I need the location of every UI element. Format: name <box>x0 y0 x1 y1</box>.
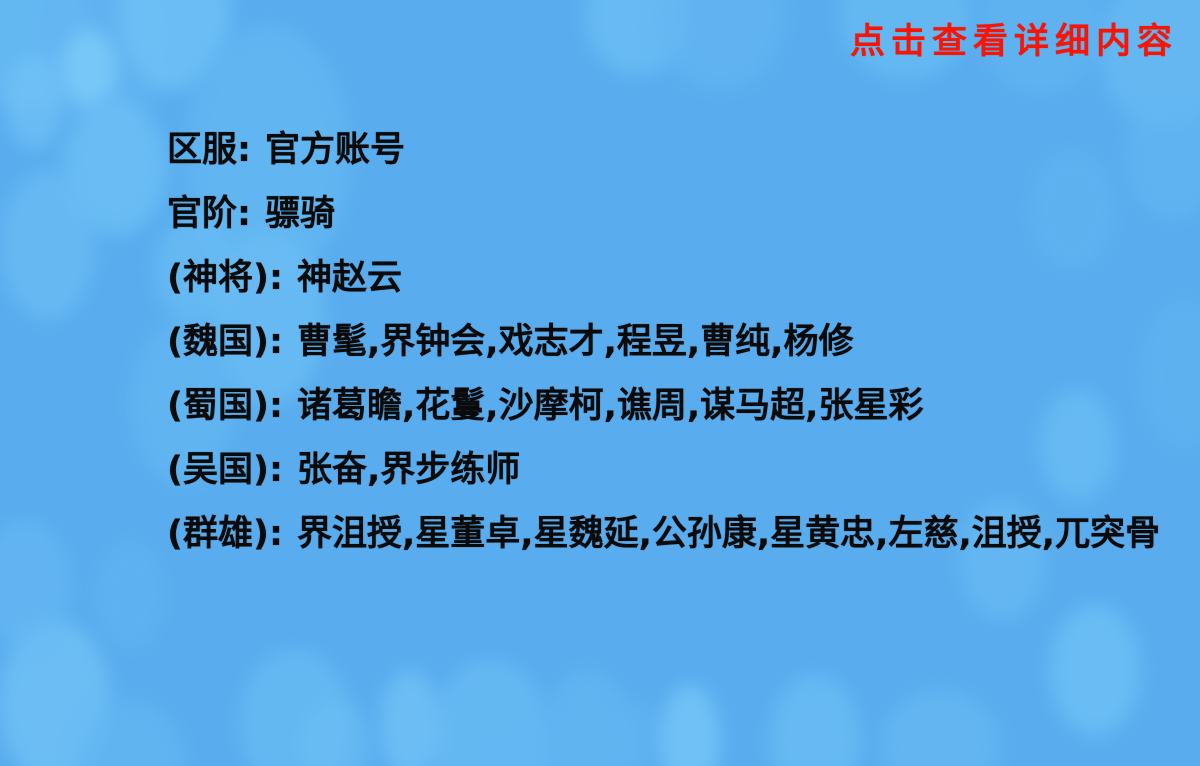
info-value-shu: 诸葛瞻,花鬘,沙摩柯,谯周,谋马超,张星彩 <box>297 386 923 426</box>
info-line-warlords: (群雄):界沮授,星董卓,星魏延,公孙康,星黄忠,左慈,沮授,兀突骨 <box>167 502 1177 566</box>
info-value-rank: 骠骑 <box>265 194 335 234</box>
info-label-warlords: (群雄): <box>167 514 283 554</box>
info-line-region: 区服:官方账号 <box>167 118 1177 182</box>
info-label-divine-general: (神将): <box>167 258 283 298</box>
info-line-rank: 官阶:骠骑 <box>167 182 1177 246</box>
player-info-list: 区服:官方账号 官阶:骠骑 (神将):神赵云 (魏国):曹髦,界钟会,戏志才,程… <box>167 118 1177 566</box>
slide-canvas: 点击查看详细内容 区服:官方账号 官阶:骠骑 (神将):神赵云 (魏国):曹髦,… <box>0 0 1200 766</box>
info-value-divine-general: 神赵云 <box>297 258 402 298</box>
info-label-wu: (吴国): <box>167 450 283 490</box>
info-label-rank: 官阶: <box>167 194 251 234</box>
info-line-wei: (魏国):曹髦,界钟会,戏志才,程昱,曹纯,杨修 <box>167 310 1177 374</box>
info-value-region: 官方账号 <box>265 130 405 170</box>
page-title[interactable]: 点击查看详细内容 <box>850 25 1178 60</box>
info-line-divine-general: (神将):神赵云 <box>167 246 1177 310</box>
info-value-wei: 曹髦,界钟会,戏志才,程昱,曹纯,杨修 <box>297 322 853 362</box>
info-value-wu: 张奋,界步练师 <box>297 450 520 490</box>
info-label-shu: (蜀国): <box>167 386 283 426</box>
info-label-wei: (魏国): <box>167 322 283 362</box>
info-line-wu: (吴国):张奋,界步练师 <box>167 438 1177 502</box>
info-line-shu: (蜀国):诸葛瞻,花鬘,沙摩柯,谯周,谋马超,张星彩 <box>167 374 1177 438</box>
info-label-region: 区服: <box>167 130 251 170</box>
slide-content: 点击查看详细内容 区服:官方账号 官阶:骠骑 (神将):神赵云 (魏国):曹髦,… <box>0 0 1200 766</box>
info-value-warlords: 界沮授,星董卓,星魏延,公孙康,星黄忠,左慈,沮授,兀突骨 <box>297 514 1160 554</box>
